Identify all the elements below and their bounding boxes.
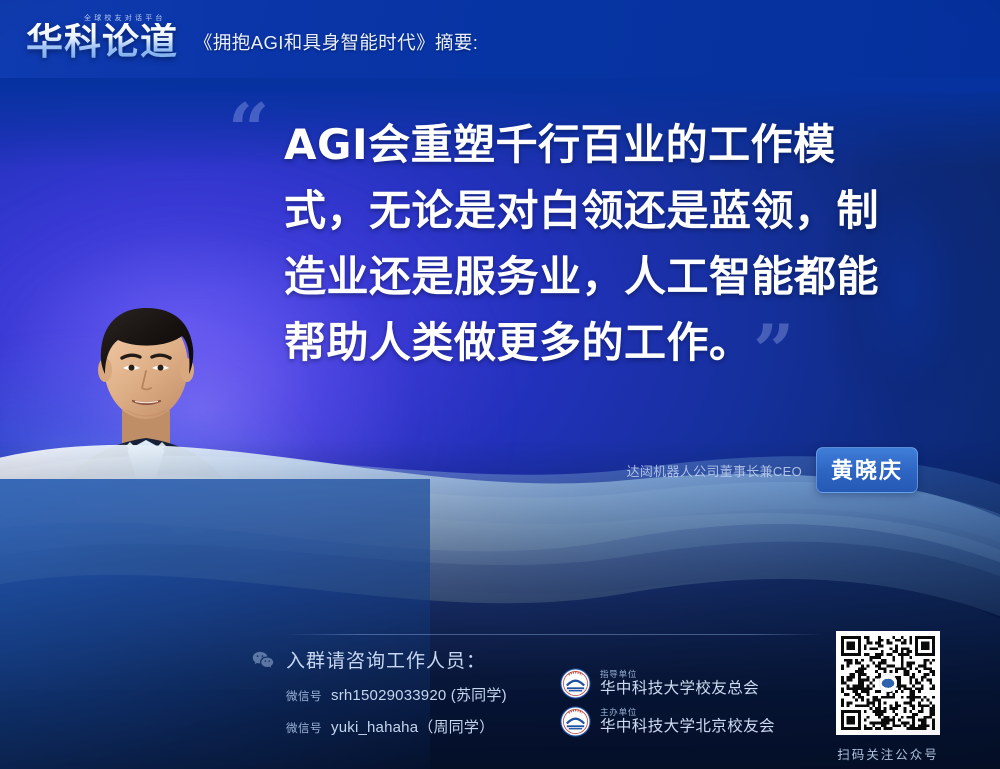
quote-line: 帮助人类做更多的工作。 xyxy=(284,310,944,376)
speaker-role: 达闼机器人公司董事长兼CEO xyxy=(627,461,802,480)
organization-text: 指导单位 华中科技大学校友总会 xyxy=(600,670,759,697)
organization-kicker: 主办单位 xyxy=(600,708,775,717)
organization-row: 指导单位 华中科技大学校友总会 xyxy=(560,668,775,699)
organization-name: 华中科技大学校友总会 xyxy=(600,681,759,697)
page-title: 《拥抱AGI和具身智能时代》摘要: xyxy=(194,29,478,62)
contact-row: 微信号 yuki_hahaha（周同学） xyxy=(286,716,507,737)
contact-label: 微信号 xyxy=(286,720,322,736)
hust-seal-icon xyxy=(560,668,591,699)
organization-text: 主办单位 华中科技大学北京校友会 xyxy=(600,708,775,735)
wechat-icon xyxy=(252,650,274,670)
speaker-name-badge: 黄晓庆 xyxy=(816,447,918,493)
hust-seal-icon xyxy=(560,706,591,737)
footer-divider xyxy=(285,634,825,635)
organizations-block: 指导单位 华中科技大学校友总会 主办单位 华中科技大学北京校友会 xyxy=(560,668,775,744)
contact-block: 入群请咨询工作人员： 微信号 srh15029033920 (苏同学) 微信号 … xyxy=(252,646,507,737)
brand-logo: 全球校友对话平台 华科论道 xyxy=(26,14,178,62)
quote-text: AGI会重塑千行百业的工作模 式，无论是对白领还是蓝领，制 造业还是服务业，人工… xyxy=(284,112,944,376)
organization-row: 主办单位 华中科技大学北京校友会 xyxy=(560,706,775,737)
quote-line: 造业还是服务业，人工智能都能 xyxy=(284,244,944,310)
qr-caption: 扫码关注公众号 xyxy=(836,744,940,763)
contact-title: 入群请咨询工作人员： xyxy=(286,646,486,673)
organization-kicker: 指导单位 xyxy=(600,670,759,679)
organization-name: 华中科技大学北京校友会 xyxy=(600,719,775,735)
attribution: 达闼机器人公司董事长兼CEO 黄晓庆 xyxy=(627,447,918,493)
contact-value: srh15029033920 (苏同学) xyxy=(331,684,507,705)
quote-line: 式，无论是对白领还是蓝领，制 xyxy=(284,178,944,244)
poster-canvas: 全球校友对话平台 华科论道 《拥抱AGI和具身智能时代》摘要: “ AGI会重塑… xyxy=(0,0,1000,769)
qr-code-icon[interactable] xyxy=(836,631,940,735)
poster-header: 全球校友对话平台 华科论道 《拥抱AGI和具身智能时代》摘要: xyxy=(26,14,478,62)
qr-block: 扫码关注公众号 xyxy=(836,631,940,763)
brand-logo-text: 华科论道 xyxy=(26,23,178,62)
contact-row: 微信号 srh15029033920 (苏同学) xyxy=(286,684,507,705)
contact-value: yuki_hahaha（周同学） xyxy=(331,716,494,737)
contact-label: 微信号 xyxy=(286,688,322,704)
quote-line: AGI会重塑千行百业的工作模 xyxy=(284,112,944,178)
contact-heading: 入群请咨询工作人员： xyxy=(252,646,507,673)
